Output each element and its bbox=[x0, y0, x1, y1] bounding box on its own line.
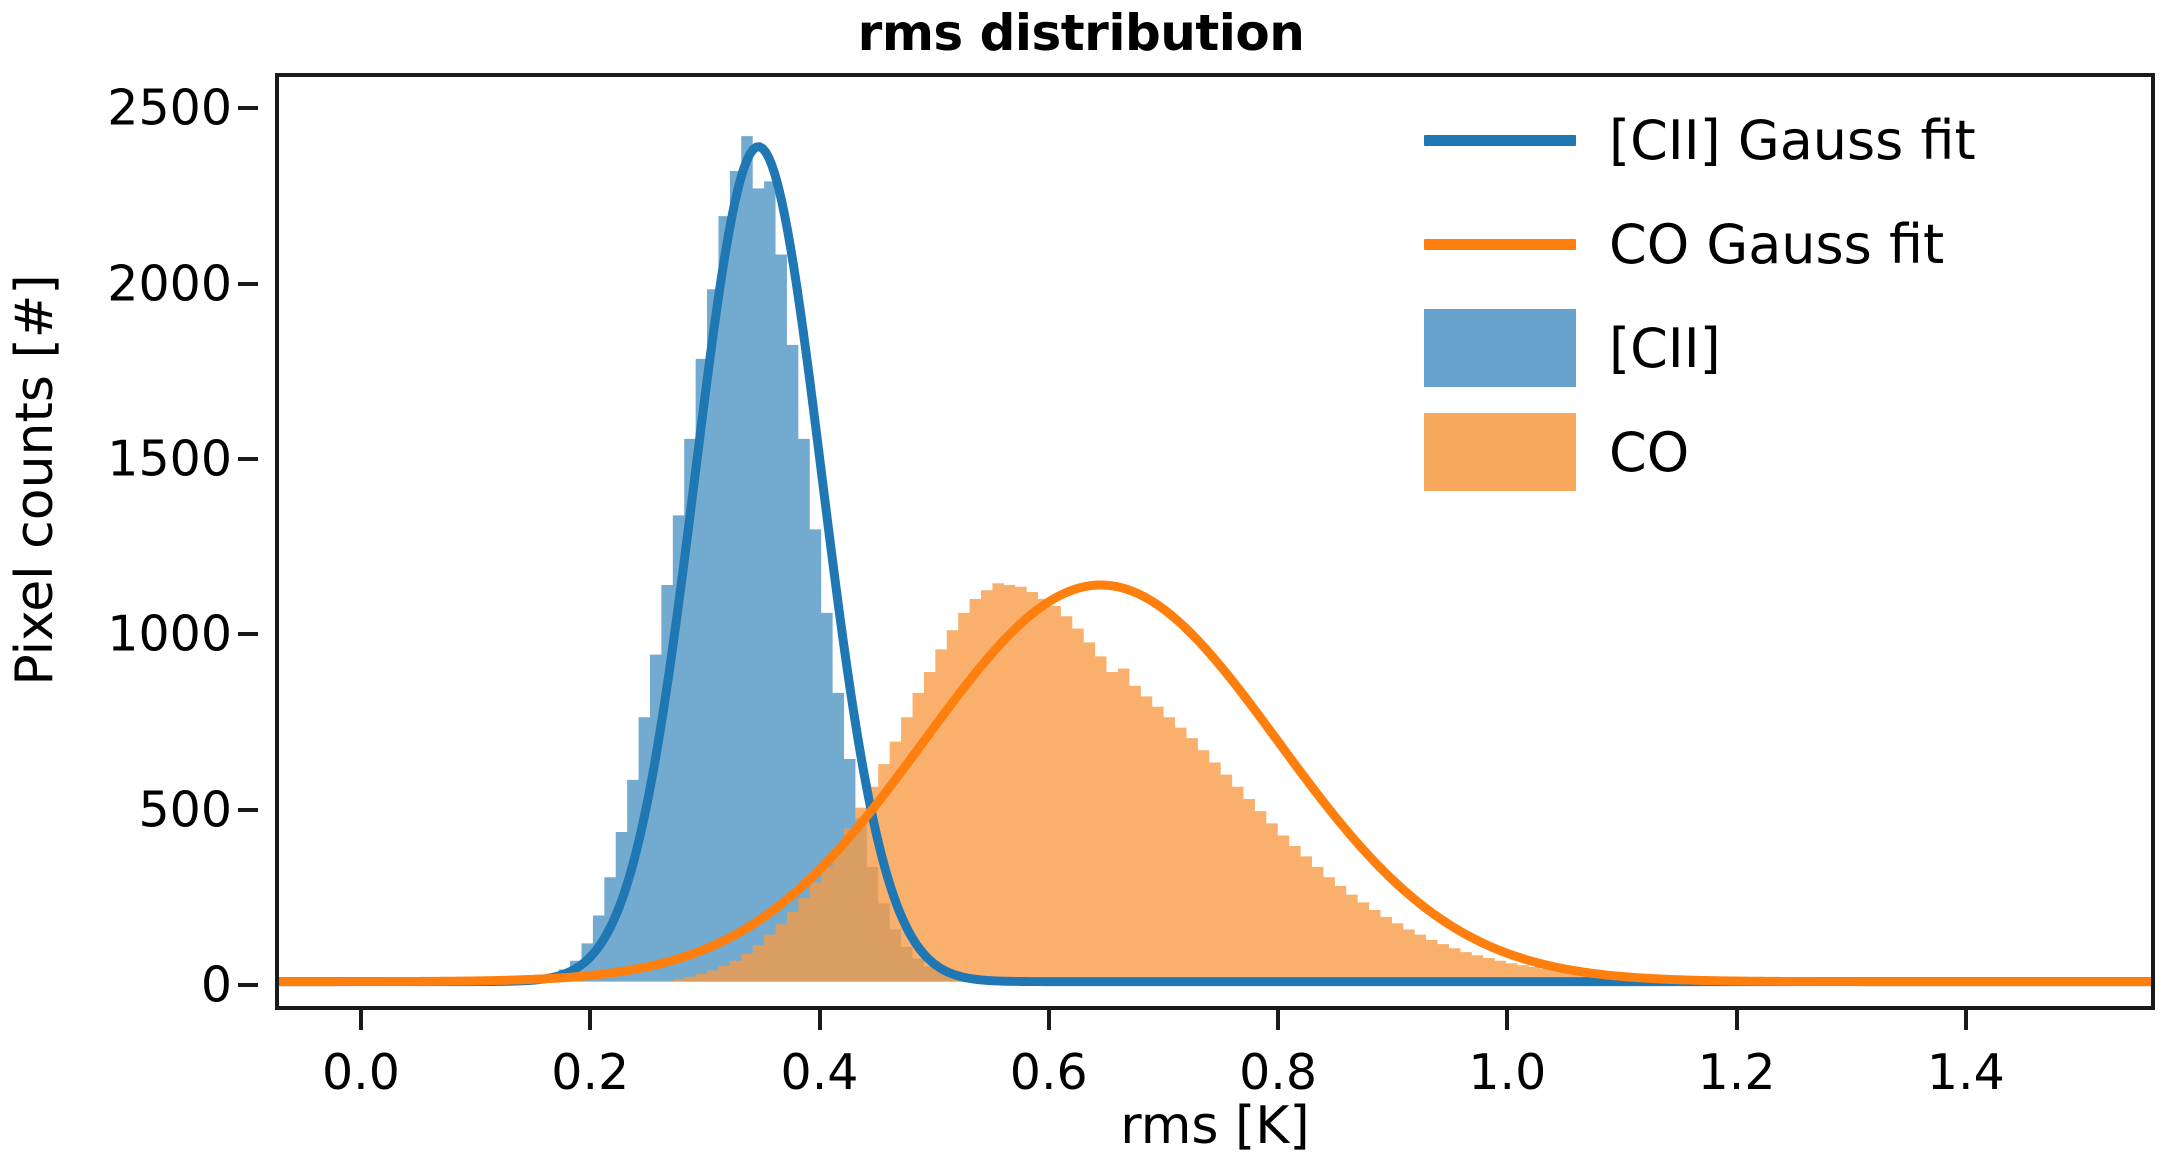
histogram-CO bbox=[673, 583, 2066, 981]
legend-label: CO Gauss fit bbox=[1595, 213, 1944, 276]
y-tick-mark bbox=[238, 632, 258, 636]
legend-swatch-patch bbox=[1405, 309, 1595, 387]
legend-label: [CII] Gauss fit bbox=[1595, 109, 1976, 172]
legend-label: [CII] bbox=[1595, 317, 1721, 380]
x-tick-label: 0.8 bbox=[1239, 1044, 1317, 1101]
x-tick-mark bbox=[1276, 1010, 1280, 1030]
y-tick-label: 0 bbox=[201, 957, 232, 1014]
y-tick-label: 1500 bbox=[107, 431, 232, 488]
x-tick-mark bbox=[1964, 1010, 1968, 1030]
legend-item[interactable]: [CII] bbox=[1405, 296, 2145, 400]
y-tick-mark bbox=[238, 282, 258, 286]
y-tick-mark bbox=[238, 808, 258, 812]
legend: [CII] Gauss fitCO Gauss fit[CII]CO bbox=[1405, 88, 2145, 504]
x-tick-label: 0.6 bbox=[1010, 1044, 1088, 1101]
legend-swatch-patch bbox=[1405, 413, 1595, 491]
legend-item[interactable]: CO Gauss fit bbox=[1405, 192, 2145, 296]
legend-item[interactable]: CO bbox=[1405, 400, 2145, 504]
y-tick-mark bbox=[238, 457, 258, 461]
legend-label: CO bbox=[1595, 421, 1689, 484]
y-tick-label: 1000 bbox=[107, 606, 232, 663]
y-tick-label: 2000 bbox=[107, 255, 232, 312]
legend-item[interactable]: [CII] Gauss fit bbox=[1405, 88, 2145, 192]
legend-color-mark bbox=[1424, 135, 1576, 146]
x-tick-label: 0.4 bbox=[781, 1044, 859, 1101]
y-axis-ticks: 05001000150020002500 bbox=[0, 73, 258, 1010]
x-tick-label: 0.0 bbox=[322, 1044, 400, 1101]
y-tick-mark bbox=[238, 106, 258, 110]
legend-color-mark bbox=[1424, 239, 1576, 250]
y-tick-label: 500 bbox=[138, 781, 232, 838]
x-tick-label: 0.2 bbox=[551, 1044, 629, 1101]
x-tick-mark bbox=[818, 1010, 822, 1030]
legend-swatch-line bbox=[1405, 135, 1595, 146]
x-tick-mark bbox=[1505, 1010, 1509, 1030]
legend-swatch-line bbox=[1405, 239, 1595, 250]
x-axis-label: rms [K] bbox=[275, 1096, 2155, 1156]
x-tick-mark bbox=[359, 1010, 363, 1030]
x-tick-label: 1.0 bbox=[1468, 1044, 1546, 1101]
rms-distribution-figure: rms distribution Pixel counts [#] 050010… bbox=[0, 0, 2162, 1165]
x-tick-mark bbox=[1047, 1010, 1051, 1030]
y-tick-label: 2500 bbox=[107, 80, 232, 137]
x-tick-mark bbox=[588, 1010, 592, 1030]
legend-color-mark bbox=[1424, 413, 1576, 491]
x-tick-label: 1.2 bbox=[1698, 1044, 1776, 1101]
x-tick-mark bbox=[1735, 1010, 1739, 1030]
page-title: rms distribution bbox=[0, 4, 2162, 62]
legend-color-mark bbox=[1424, 309, 1576, 387]
x-tick-label: 1.4 bbox=[1927, 1044, 2005, 1101]
y-tick-mark bbox=[238, 983, 258, 987]
x-axis-ticks: 0.00.20.40.60.81.01.21.4 bbox=[275, 1010, 2155, 1100]
